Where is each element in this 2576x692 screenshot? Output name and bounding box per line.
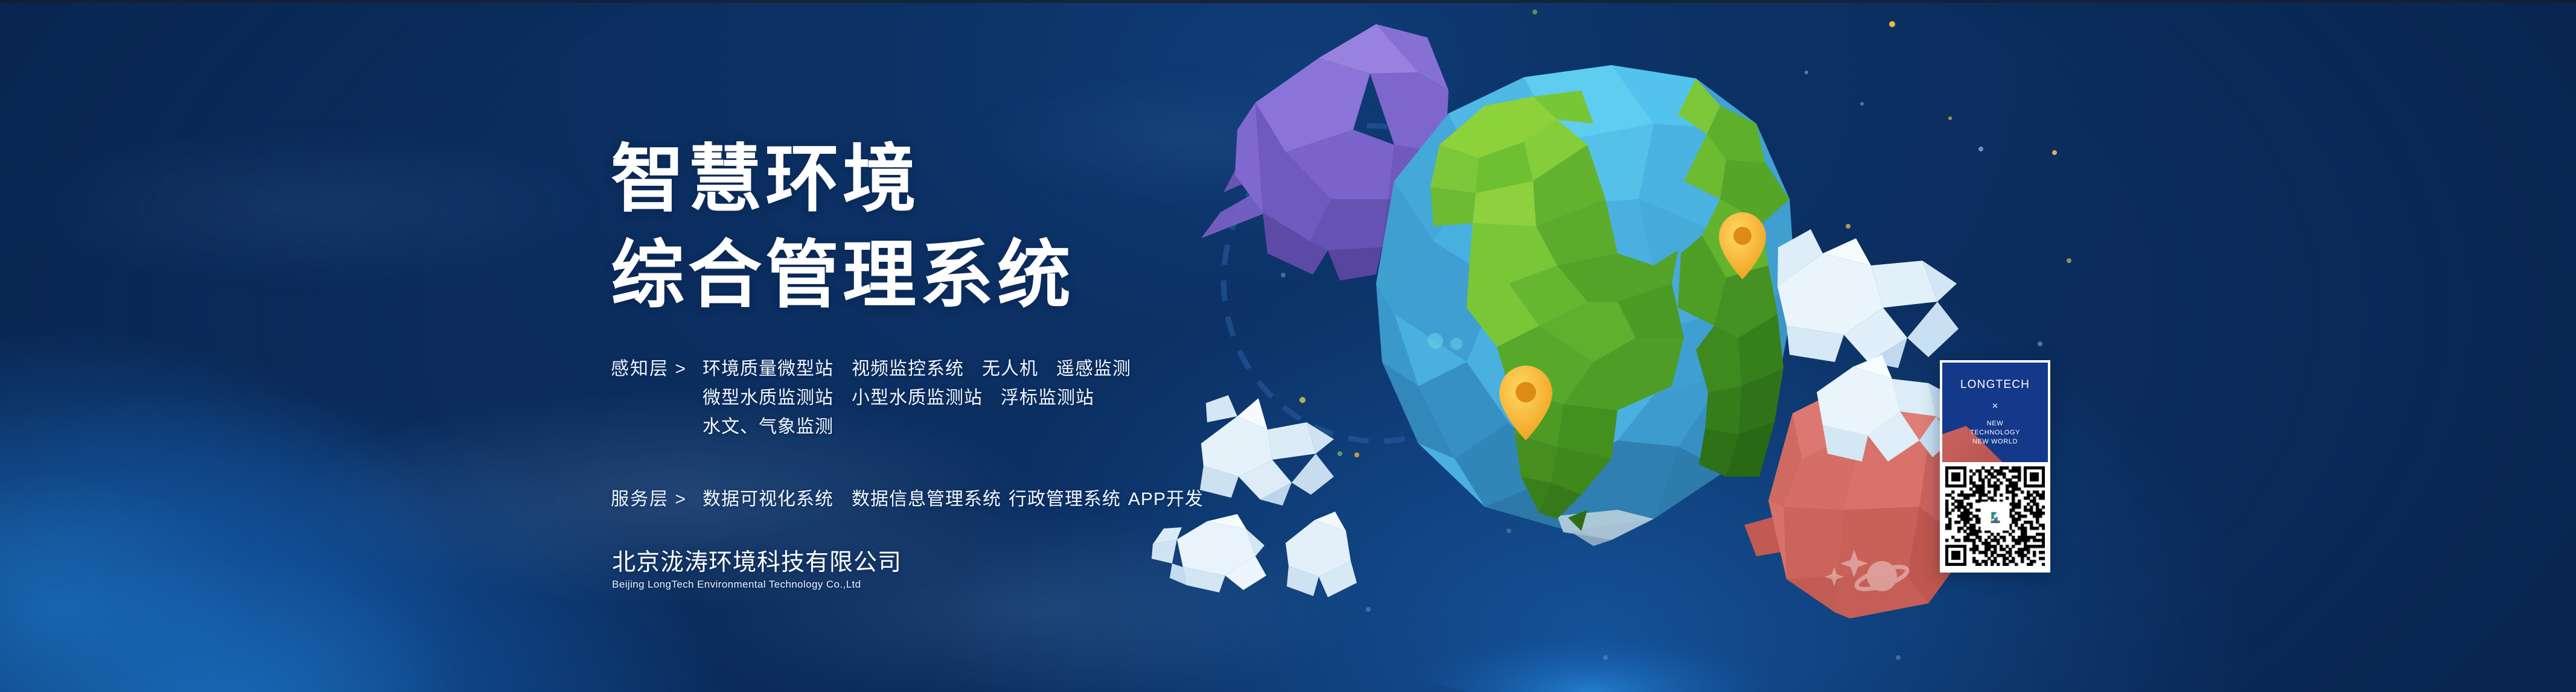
brand-tagline: NEW TECHNOLOGY NEW WORLD [1970,419,2020,446]
earth-globe [1376,65,1796,546]
tagline-line-3: NEW WORLD [1970,437,2020,446]
item-micro-water-station[interactable]: 微型水质监测站 [703,388,834,408]
item-hydrology-meteorology[interactable]: 水文、气象监测 [703,417,834,437]
item-uav[interactable]: 无人机 [982,359,1038,379]
space-illustration [1195,0,2100,692]
brand-name: LONGTECH [1960,378,2030,392]
tagline-line-2: TECHNOLOGY [1970,428,2020,437]
layer-label-perception: 感知层 > [611,355,703,384]
headline-line-1: 智慧环境 [611,138,920,220]
tagline-line-1: NEW [1970,419,2020,428]
cloud-right-lower [1817,355,1957,462]
layer-items-perception: 环境质量微型站视频监控系统无人机遥感监测 微型水质监测站小型水质监测站浮标监测站… [703,355,1275,442]
headline-line-2: 综合管理系统 [611,234,1074,316]
item-remote-sensing[interactable]: 遥感监测 [1056,359,1131,379]
page-title: 智慧环境 综合管理系统 [611,132,1074,323]
layer-row-service: 服务层 > 数据可视化系统数据信息管理系统行政管理系统APP开发 [611,485,1275,514]
qr-center-logo-icon [1984,506,2007,529]
qr-code-image[interactable] [1945,466,2045,567]
item-video-surveillance[interactable]: 视频监控系统 [852,359,964,379]
item-data-info-management[interactable]: 数据信息管理系统 [852,489,1001,509]
item-admin-management[interactable]: 行政管理系统 [1009,489,1121,509]
cloud-bottom [1135,508,1316,605]
layer-row-perception: 感知层 > 环境质量微型站视频监控系统无人机遥感监测 微型水质监测站小型水质监测… [611,355,1275,442]
x-symbol-icon: × [1992,400,1998,412]
qr-card[interactable]: LONGTECH × NEW TECHNOLOGY NEW WORLD [1940,360,2050,573]
item-app-development[interactable]: APP开发 [1128,489,1204,509]
hero-banner: 智慧环境 综合管理系统 感知层 > 环境质量微型站视频监控系统无人机遥感监测 微… [0,0,2576,692]
layer-list: 感知层 > 环境质量微型站视频监控系统无人机遥感监测 微型水质监测站小型水质监测… [611,355,1275,514]
company-signature: 北京泷涛环境科技有限公司 Beijing LongTech Environmen… [612,549,902,592]
item-data-visualization[interactable]: 数据可视化系统 [703,489,834,509]
item-line: 数据可视化系统数据信息管理系统行政管理系统APP开发 [703,485,1275,514]
item-line: 微型水质监测站小型水质监测站浮标监测站 [703,384,1275,413]
item-line: 水文、气象监测 [703,413,1275,442]
cloud-right-upper [1777,229,1959,368]
layer-label-service: 服务层 > [611,485,703,514]
item-buoy-station[interactable]: 浮标监测站 [1001,388,1094,408]
qr-card-header: LONGTECH × NEW TECHNOLOGY NEW WORLD [1942,362,2048,463]
company-name-cn: 北京泷涛环境科技有限公司 [612,549,902,577]
item-small-water-station[interactable]: 小型水质监测站 [852,388,983,408]
item-env-micro-station[interactable]: 环境质量微型站 [703,359,834,379]
item-line: 环境质量微型站视频监控系统无人机遥感监测 [703,355,1275,384]
company-name-en: Beijing LongTech Environmental Technolog… [612,577,902,592]
layer-items-service: 数据可视化系统数据信息管理系统行政管理系统APP开发 [703,485,1275,514]
